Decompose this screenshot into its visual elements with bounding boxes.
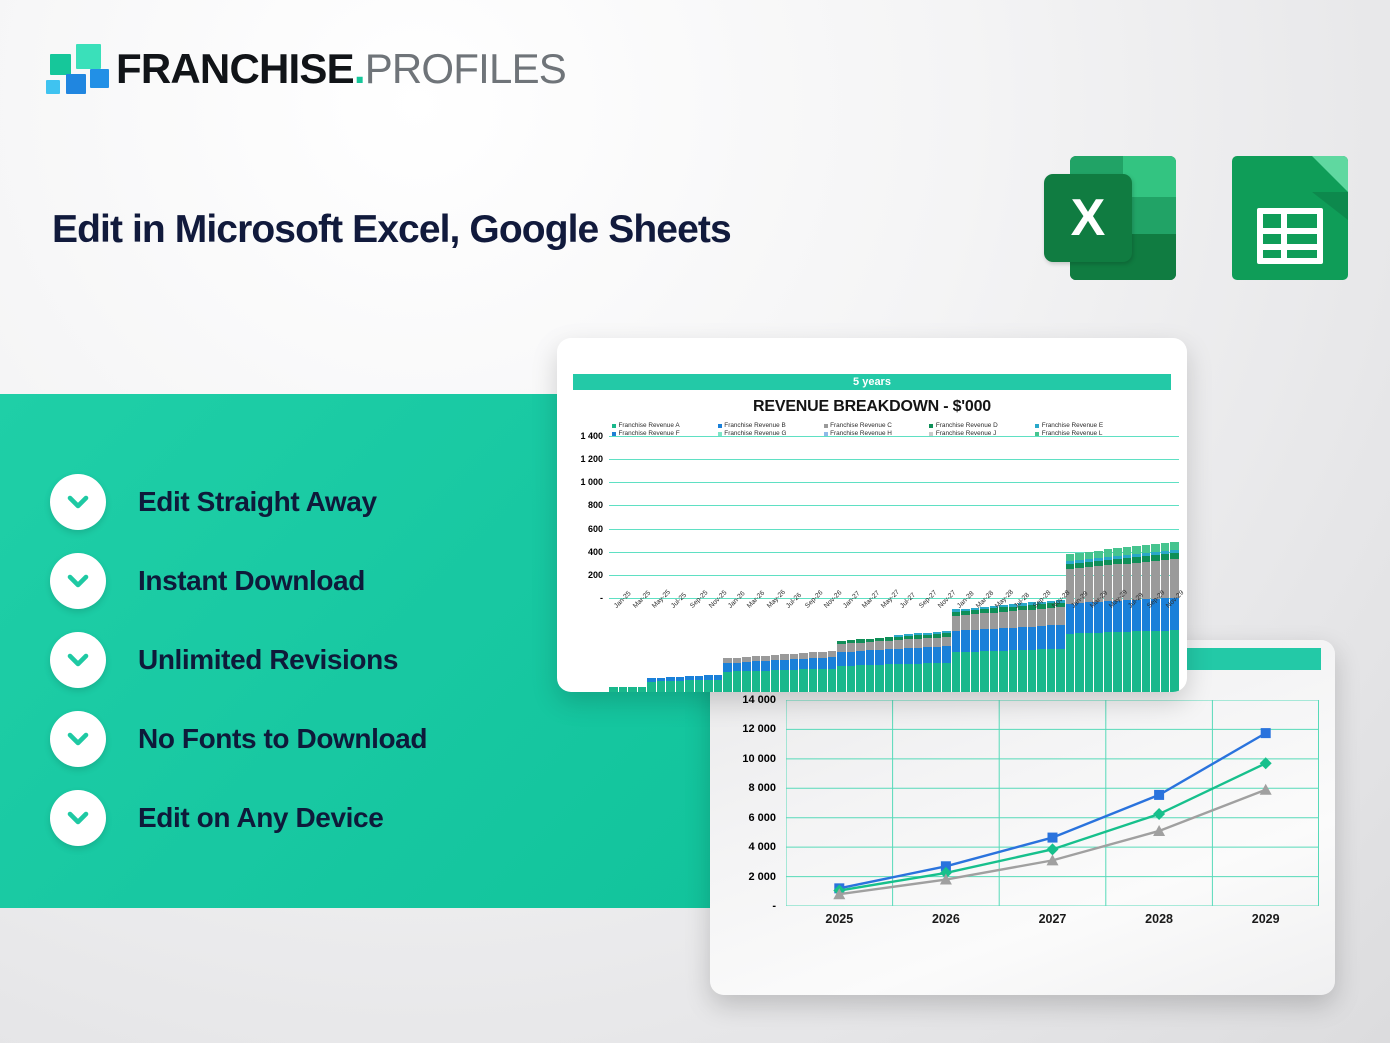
x-axis-slot (695, 600, 704, 660)
x-axis-slot: Jan-27 (837, 600, 846, 660)
y-axis-tick: 12 000 (742, 723, 776, 735)
data-point-marker (1154, 790, 1164, 800)
legend-swatch (824, 432, 828, 436)
bar-segment (742, 671, 751, 692)
feature-label: Instant Download (138, 565, 365, 597)
x-axis-slot (1075, 600, 1084, 660)
profit-summary-card: ber 2029 oss Margin 14 00012 00010 0008 … (710, 640, 1335, 995)
bar-segment (1123, 547, 1132, 554)
bar-segment (761, 661, 770, 671)
x-axis-slot: May-28 (990, 600, 999, 660)
x-axis-slot (1094, 600, 1103, 660)
legend-item: Franchise Revenue A (612, 422, 714, 429)
gridline (609, 482, 1179, 483)
x-axis-slot: Mar-28 (971, 600, 980, 660)
bar-segment (904, 664, 913, 692)
bar-segment (1161, 543, 1170, 551)
x-axis-slot (1132, 600, 1141, 660)
chevron-down-icon (50, 711, 106, 767)
x-axis-slot (733, 600, 742, 660)
bar-segment (1151, 544, 1160, 552)
bar-segment (657, 681, 666, 692)
revenue-card-banner: 5 years (573, 374, 1171, 390)
x-axis-tick: 2026 (893, 912, 1000, 926)
bar-segment (1113, 548, 1122, 555)
bar-segment (685, 680, 694, 692)
x-axis-slot (828, 600, 837, 660)
bar-stack (647, 678, 656, 692)
bar-stack (723, 658, 732, 692)
bar-segment (923, 663, 932, 692)
bar-segment (752, 671, 761, 692)
bar-segment (818, 669, 827, 692)
legend-swatch (824, 424, 828, 428)
legend-swatch (1035, 432, 1039, 436)
legend-swatch (1035, 424, 1039, 428)
x-axis-tick: 2029 (1212, 912, 1319, 926)
revenue-bar-chart: 1 4001 2001 000800600400200- Jan-25Mar-2… (557, 436, 1187, 692)
legend-label: Franchise Revenue A (619, 422, 680, 429)
legend-label: Franchise Revenue C (830, 422, 892, 429)
gridline (609, 505, 1179, 506)
x-axis-slot: Jan-26 (723, 600, 732, 660)
bar-stack (733, 658, 742, 692)
bar-segment (723, 672, 732, 692)
y-axis-tick: 14 000 (742, 694, 776, 706)
bar-segment (1104, 549, 1113, 556)
bar-segment (609, 687, 618, 692)
logo-word-profiles: PROFILES (365, 45, 566, 92)
x-axis-slot: May-27 (875, 600, 884, 660)
bar-stack (752, 656, 761, 692)
bar-stack (666, 677, 675, 692)
x-axis-slot (980, 600, 989, 660)
bar-segment (638, 687, 647, 692)
google-sheets-icon (1224, 152, 1356, 284)
bar-segment (875, 665, 884, 692)
x-axis-slot: Jul-26 (780, 600, 789, 660)
bar-segment (761, 671, 770, 692)
revenue-breakdown-card: 5 years REVENUE BREAKDOWN - $'000 Franch… (557, 338, 1187, 692)
y-axis-tick: - (600, 593, 603, 603)
x-axis-slot (904, 600, 913, 660)
bar-segment (771, 670, 780, 692)
bar-segment (714, 680, 723, 692)
bar-segment (1066, 554, 1075, 561)
data-point-marker (1153, 808, 1165, 820)
profit-chart-svg (786, 700, 1319, 906)
logo-wordmark: FRANCHISE.PROFILES (116, 48, 566, 90)
bar-segment (780, 670, 789, 692)
x-axis-slot: Sep-25 (685, 600, 694, 660)
y-axis-tick: 600 (588, 524, 603, 534)
list-item: No Fonts to Download (50, 699, 690, 778)
x-axis-slot: Mar-27 (856, 600, 865, 660)
x-axis-slot: Nov-27 (933, 600, 942, 660)
x-axis-slot: May-29 (1104, 600, 1113, 660)
page-title: Edit in Microsoft Excel, Google Sheets (52, 208, 731, 252)
legend-label: Franchise Revenue B (724, 422, 785, 429)
x-axis-slot: Jan-28 (952, 600, 961, 660)
legend-swatch (718, 424, 722, 428)
bar-segment (1085, 552, 1094, 559)
bar-segment (1094, 551, 1103, 558)
bar-stack (704, 675, 713, 692)
x-axis-slot: Jan-25 (609, 600, 618, 660)
bar-segment (809, 669, 818, 692)
legend-swatch (718, 432, 722, 436)
x-axis-slot: Nov-26 (818, 600, 827, 660)
bar-segment (733, 671, 742, 692)
x-axis-slot (1151, 600, 1160, 660)
y-axis-tick: 1 200 (580, 454, 603, 464)
y-axis-tick: 2 000 (748, 871, 776, 883)
bar-segment (866, 665, 875, 692)
bar-stack (657, 678, 666, 692)
bar-stack (619, 687, 628, 692)
bar-segment (1142, 545, 1151, 553)
bar-stack (685, 676, 694, 692)
profit-plot-area (786, 700, 1319, 906)
revenue-y-axis: 1 4001 2001 000800600400200- (557, 436, 607, 598)
x-axis-slot (961, 600, 970, 660)
list-item: Edit on Any Device (50, 778, 690, 857)
bar-segment (885, 664, 894, 692)
y-axis-tick: 1 000 (580, 477, 603, 487)
bar-segment (933, 663, 942, 692)
bar-stack (742, 657, 751, 692)
data-point-marker (1261, 728, 1271, 738)
y-axis-tick: 1 400 (580, 431, 603, 441)
x-axis-slot: Jul-29 (1123, 600, 1132, 660)
data-point-marker (1047, 843, 1059, 855)
x-axis-slot (1018, 600, 1027, 660)
bar-segment (676, 681, 685, 692)
x-axis-slot (847, 600, 856, 660)
bar-stack (761, 656, 770, 692)
x-axis-slot (923, 600, 932, 660)
feature-label: No Fonts to Download (138, 723, 427, 755)
bar-segment (733, 663, 742, 672)
x-axis-slot (866, 600, 875, 660)
feature-label: Edit Straight Away (138, 486, 377, 518)
bar-segment (647, 682, 656, 692)
feature-label: Unlimited Revisions (138, 644, 398, 676)
y-axis-tick: 4 000 (748, 841, 776, 853)
x-axis-slot (885, 600, 894, 660)
x-axis-slot (790, 600, 799, 660)
y-axis-tick: 10 000 (742, 753, 776, 765)
bar-segment (628, 687, 637, 692)
x-axis-slot (999, 600, 1008, 660)
chevron-down-icon (50, 632, 106, 688)
y-axis-tick: 400 (588, 547, 603, 557)
bar-segment (742, 662, 751, 671)
data-point-marker (1260, 784, 1272, 795)
revenue-chart-title: REVENUE BREAKDOWN - $'000 (557, 398, 1187, 416)
logo-word-franchise: FRANCHISE (116, 45, 354, 92)
legend-label: Franchise Revenue E (1042, 422, 1103, 429)
bar-segment (856, 665, 865, 692)
x-axis-slot (676, 600, 685, 660)
x-axis-slot: Nov-25 (704, 600, 713, 660)
x-axis-slot (657, 600, 666, 660)
gridline (609, 436, 1179, 437)
chevron-down-icon (50, 553, 106, 609)
bar-segment (790, 670, 799, 692)
bar-segment (780, 660, 789, 670)
legend-swatch (612, 432, 616, 436)
chevron-down-icon (50, 790, 106, 846)
bar-stack (676, 677, 685, 692)
bar-stack (638, 687, 647, 692)
legend-item: Franchise Revenue B (718, 422, 820, 429)
legend-item: Franchise Revenue D (929, 422, 1031, 429)
excel-x-glyph: X (1044, 174, 1132, 262)
bar-segment (704, 680, 713, 692)
bar-stack (780, 654, 789, 692)
gridline (609, 459, 1179, 460)
bar-segment (828, 669, 837, 692)
legend-swatch (612, 424, 616, 428)
bar-segment (847, 666, 856, 692)
bar-stack (771, 655, 780, 692)
y-axis-tick: 8 000 (748, 782, 776, 794)
promo-graphic: FRANCHISE.PROFILES Edit in Microsoft Exc… (0, 0, 1390, 1043)
series-line (839, 763, 1265, 890)
revenue-x-axis: Jan-25Mar-25May-25Jul-25Sep-25Nov-25Jan-… (609, 600, 1179, 660)
logo-dot: . (354, 45, 365, 92)
profit-y-axis: 14 00012 00010 0008 0006 0004 0002 000- (710, 700, 782, 906)
x-axis-slot: Sep-27 (914, 600, 923, 660)
x-axis-slot: Jul-28 (1009, 600, 1018, 660)
bar-segment (942, 663, 951, 692)
legend-label: Franchise Revenue D (936, 422, 998, 429)
bar-segment (619, 687, 628, 692)
bar-segment (837, 666, 846, 692)
bar-stack (628, 687, 637, 692)
x-axis-slot: Nov-28 (1047, 600, 1056, 660)
bar-segment (790, 659, 799, 669)
bar-segment (799, 669, 808, 692)
bar-stack (609, 687, 618, 692)
x-axis-slot: May-26 (761, 600, 770, 660)
bar-segment (752, 661, 761, 670)
profit-x-axis: 20252026202720282029 (786, 912, 1319, 926)
x-axis-slot: Sep-26 (799, 600, 808, 660)
bar-segment (799, 659, 808, 670)
bar-segment (914, 664, 923, 692)
x-axis-slot (752, 600, 761, 660)
x-axis-slot: Sep-29 (1142, 600, 1151, 660)
bar-segment (666, 681, 675, 692)
bar-stack (714, 675, 723, 692)
legend-item: Franchise Revenue C (824, 422, 926, 429)
app-icon-group: X (1044, 152, 1356, 284)
y-axis-tick: 6 000 (748, 812, 776, 824)
chevron-down-icon (50, 474, 106, 530)
data-point-marker (1048, 833, 1058, 843)
x-axis-slot: Mar-25 (628, 600, 637, 660)
x-axis-tick: 2027 (999, 912, 1106, 926)
revenue-chart-legend: Franchise Revenue AFranchise Revenue BFr… (612, 422, 1137, 437)
bar-segment (723, 663, 732, 672)
x-axis-slot: Jan-29 (1066, 600, 1075, 660)
bar-segment (1170, 542, 1179, 550)
x-axis-slot: Nov-29 (1161, 600, 1170, 660)
feature-label: Edit on Any Device (138, 802, 383, 834)
microsoft-excel-icon: X (1044, 152, 1176, 284)
x-axis-slot (1037, 600, 1046, 660)
x-axis-slot: Jul-25 (666, 600, 675, 660)
bar-stack (695, 676, 704, 692)
x-axis-slot (1170, 600, 1179, 660)
x-axis-slot (942, 600, 951, 660)
x-axis-slot: Mar-29 (1085, 600, 1094, 660)
x-axis-slot (714, 600, 723, 660)
bar-segment (894, 664, 903, 692)
x-axis-slot (1056, 600, 1065, 660)
brand-logo: FRANCHISE.PROFILES (44, 42, 566, 96)
y-axis-tick: 200 (588, 570, 603, 580)
x-axis-slot (638, 600, 647, 660)
legend-swatch (929, 432, 933, 436)
logo-squares-icon (44, 42, 102, 96)
x-axis-slot (1113, 600, 1122, 660)
x-axis-tick: 2028 (1106, 912, 1213, 926)
x-axis-slot (619, 600, 628, 660)
x-axis-slot: Mar-26 (742, 600, 751, 660)
bar-segment (771, 660, 780, 670)
profit-line-chart: 14 00012 00010 0008 0006 0004 0002 000- … (710, 700, 1335, 995)
bar-segment (1132, 546, 1141, 554)
x-axis-slot: Sep-28 (1028, 600, 1037, 660)
legend-swatch (929, 424, 933, 428)
y-axis-tick: - (772, 900, 776, 912)
x-axis-slot: May-25 (647, 600, 656, 660)
legend-item: Franchise Revenue E (1035, 422, 1137, 429)
bar-segment (695, 680, 704, 692)
bar-segment (1075, 553, 1084, 560)
x-axis-slot: Jul-27 (894, 600, 903, 660)
x-axis-slot (771, 600, 780, 660)
x-axis-slot (809, 600, 818, 660)
y-axis-tick: 800 (588, 500, 603, 510)
x-axis-tick: 2025 (786, 912, 893, 926)
